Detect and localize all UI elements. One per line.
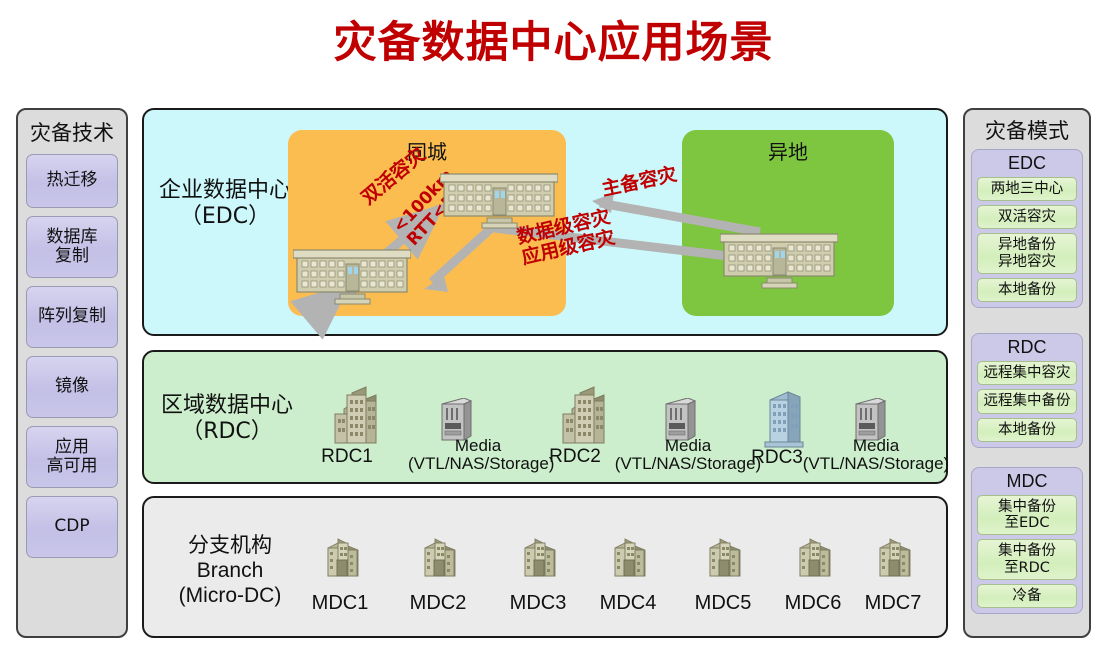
right-sidebar-heading: 灾备模式 (985, 115, 1069, 145)
diagram-canvas: 灾备数据中心应用场景 灾备技术 热迁移 数据库 复制 阵列复制 镜像 应用 高可… (0, 0, 1107, 650)
tech-item-label: CDP (54, 517, 89, 536)
mdc-label-cn: 分支机构 (150, 533, 310, 558)
tech-item-label: 阵列复制 (38, 307, 106, 326)
mdc7-label: MDC7 (853, 592, 933, 614)
disaster-recovery-tech-sidebar: 灾备技术 热迁移 数据库 复制 阵列复制 镜像 应用 高可用 CDP (16, 108, 128, 638)
mode-item-mdc-2[interactable]: 冷备 (977, 584, 1077, 608)
mdc2-building-icon (415, 534, 463, 587)
media-sublabel: (VTL/NAS/Storage) (800, 455, 952, 473)
mdc6-label: MDC6 (773, 592, 853, 614)
mdc3-label: MDC3 (498, 592, 578, 614)
tech-item-cdp[interactable]: CDP (26, 496, 118, 558)
mode-item-edc-1[interactable]: 双活容灾 (977, 205, 1077, 229)
rdc-panel-label: 区域数据中心 （RDC） (152, 393, 302, 446)
mode-item-edc-3[interactable]: 本地备份 (977, 278, 1077, 302)
tech-item-label: 应用 高可用 (47, 438, 98, 476)
mdc1-building-icon (318, 534, 366, 587)
tech-item-app-ha[interactable]: 应用 高可用 (26, 426, 118, 488)
disaster-recovery-mode-sidebar: 灾备模式 EDC 两地三中心 双活容灾 异地备份 异地容灾 本地备份 RDC 远… (963, 108, 1091, 638)
media-label: Media (613, 437, 763, 455)
mdc-label-sub: (Micro-DC) (150, 583, 310, 608)
tech-item-label: 数据库 复制 (47, 228, 98, 266)
edc-building-remote (720, 232, 838, 295)
media-label: Media (408, 437, 548, 455)
edc-panel-label: 企业数据中心 （EDC） (150, 178, 300, 231)
mode-group-title: RDC (977, 337, 1077, 358)
zone-remote-city-title: 异地 (682, 136, 894, 165)
mdc5-label: MDC5 (683, 592, 763, 614)
rdc3-media-caption: Media (VTL/NAS/Storage) (800, 437, 952, 474)
rdc2-building-icon (558, 385, 612, 452)
mode-item-mdc-0[interactable]: 集中备份 至EDC (977, 495, 1077, 535)
mode-group-title: MDC (977, 471, 1077, 492)
mode-item-rdc-0[interactable]: 远程集中容灾 (977, 361, 1077, 385)
edc-building-same-city-2 (293, 248, 411, 311)
edc-building-same-city-1 (440, 172, 558, 235)
mode-item-rdc-2[interactable]: 本地备份 (977, 418, 1077, 442)
mode-group-edc: EDC 两地三中心 双活容灾 异地备份 异地容灾 本地备份 (971, 149, 1083, 308)
rdc2-label: RDC2 (540, 447, 610, 468)
rdc1-label: RDC1 (312, 447, 382, 468)
mdc4-label: MDC4 (588, 592, 668, 614)
rdc1-media-caption: Media (VTL/NAS/Storage) (408, 437, 548, 474)
mdc5-building-icon (700, 534, 748, 587)
mdc3-building-icon (515, 534, 563, 587)
mode-item-mdc-1[interactable]: 集中备份 至RDC (977, 539, 1077, 579)
mdc7-building-icon (870, 534, 918, 587)
mode-group-title: EDC (977, 153, 1077, 174)
tech-item-database-replication[interactable]: 数据库 复制 (26, 216, 118, 278)
mode-item-edc-2[interactable]: 异地备份 异地容灾 (977, 233, 1077, 273)
media-sublabel: (VTL/NAS/Storage) (408, 455, 548, 473)
mode-item-edc-0[interactable]: 两地三中心 (977, 177, 1077, 201)
mode-item-rdc-1[interactable]: 远程集中备份 (977, 389, 1077, 413)
tech-item-hot-migration[interactable]: 热迁移 (26, 154, 118, 208)
tech-item-array-replication[interactable]: 阵列复制 (26, 286, 118, 348)
mdc-label-en: Branch (150, 558, 310, 583)
mdc1-label: MDC1 (300, 592, 380, 614)
mode-group-rdc: RDC 远程集中容灾 远程集中备份 本地备份 (971, 333, 1083, 448)
mdc-panel-label: 分支机构 Branch (Micro-DC) (150, 533, 310, 609)
mdc6-building-icon (790, 534, 838, 587)
mdc4-building-icon (605, 534, 653, 587)
tech-item-label: 热迁移 (47, 171, 98, 190)
mode-group-mdc: MDC 集中备份 至EDC 集中备份 至RDC 冷备 (971, 467, 1083, 614)
rdc1-building-icon (330, 385, 384, 452)
left-sidebar-heading: 灾备技术 (30, 117, 114, 147)
mdc2-label: MDC2 (398, 592, 478, 614)
page-title: 灾备数据中心应用场景 (0, 8, 1107, 70)
tech-item-label: 镜像 (55, 377, 89, 396)
tech-item-mirroring[interactable]: 镜像 (26, 356, 118, 418)
rdc2-media-caption: Media (VTL/NAS/Storage) (613, 437, 763, 474)
media-sublabel: (VTL/NAS/Storage) (613, 455, 763, 473)
media-label: Media (800, 437, 952, 455)
